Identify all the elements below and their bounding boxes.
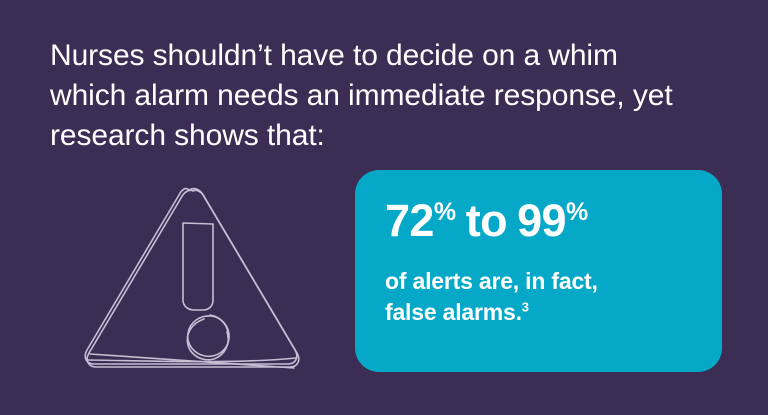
headline-text: Nurses shouldn’t have to decide on a whi… <box>50 36 710 156</box>
infographic-slide: Nurses shouldn’t have to decide on a whi… <box>0 0 768 415</box>
stat-second-unit: % <box>566 198 588 226</box>
footnote-marker: 3 <box>522 299 529 314</box>
stat-callout-card: 72%to99% of alerts are, in fact, false a… <box>355 170 722 372</box>
stat-first-value: 72 <box>385 195 434 246</box>
warning-triangle-exclamation-icon <box>70 178 320 378</box>
stat-body: of alerts are, in fact, false alarms.3 <box>385 266 692 328</box>
stat-headline: 72%to99% <box>385 196 692 246</box>
stat-first-unit: % <box>434 198 456 226</box>
stat-body-text: of alerts are, in fact, false alarms. <box>385 268 598 325</box>
stat-connector: to <box>466 195 507 246</box>
stat-second-value: 99 <box>517 195 566 246</box>
